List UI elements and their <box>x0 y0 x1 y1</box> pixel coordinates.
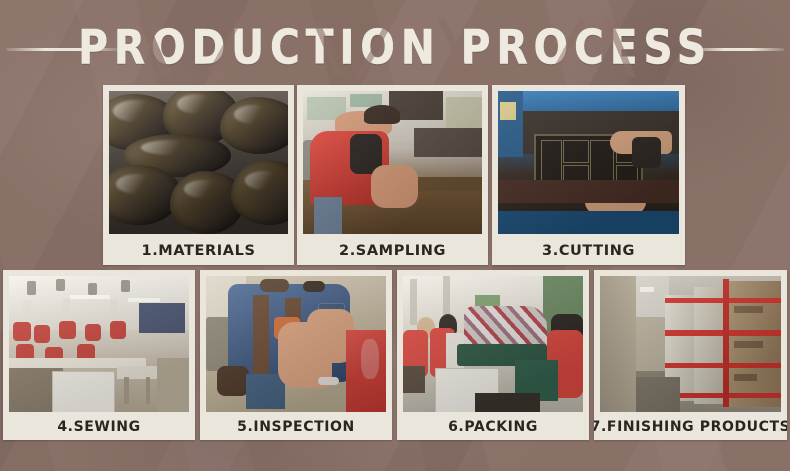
step-photo-sewing <box>9 276 189 412</box>
step-photo-packing <box>403 276 583 412</box>
step-caption-materials: 1.MATERIALS <box>103 237 294 265</box>
step-photo-materials <box>109 91 288 234</box>
step-caption-finishing-products: 7.FINISHING PRODUCTS <box>594 414 787 440</box>
step-card-sampling: 2.SAMPLING <box>297 85 488 265</box>
step-card-packing: 6.PACKING <box>397 270 589 440</box>
step-photo-inspection <box>206 276 386 412</box>
step-card-materials: 1.MATERIALS <box>103 85 294 265</box>
step-photo-sampling <box>303 91 482 234</box>
page-title: PRODUCTION PROCESS <box>12 19 778 77</box>
step-card-inspection: 5.INSPECTION <box>200 270 392 440</box>
step-card-finishing-products: 7.FINISHING PRODUCTS <box>594 270 787 440</box>
step-caption-sampling: 2.SAMPLING <box>297 237 488 265</box>
step-photo-cutting <box>498 91 679 234</box>
step-card-sewing: 4.SEWING <box>3 270 195 440</box>
production-process-banner: PRODUCTION PROCESS 1.MATERI <box>0 0 790 471</box>
step-photo-finishing-products <box>600 276 781 412</box>
step-card-cutting: 3.CUTTING <box>492 85 685 265</box>
step-caption-sewing: 4.SEWING <box>3 414 195 440</box>
step-caption-packing: 6.PACKING <box>397 414 589 440</box>
step-caption-inspection: 5.INSPECTION <box>200 414 392 440</box>
step-caption-cutting: 3.CUTTING <box>492 237 685 265</box>
banner-header: PRODUCTION PROCESS <box>0 0 790 86</box>
